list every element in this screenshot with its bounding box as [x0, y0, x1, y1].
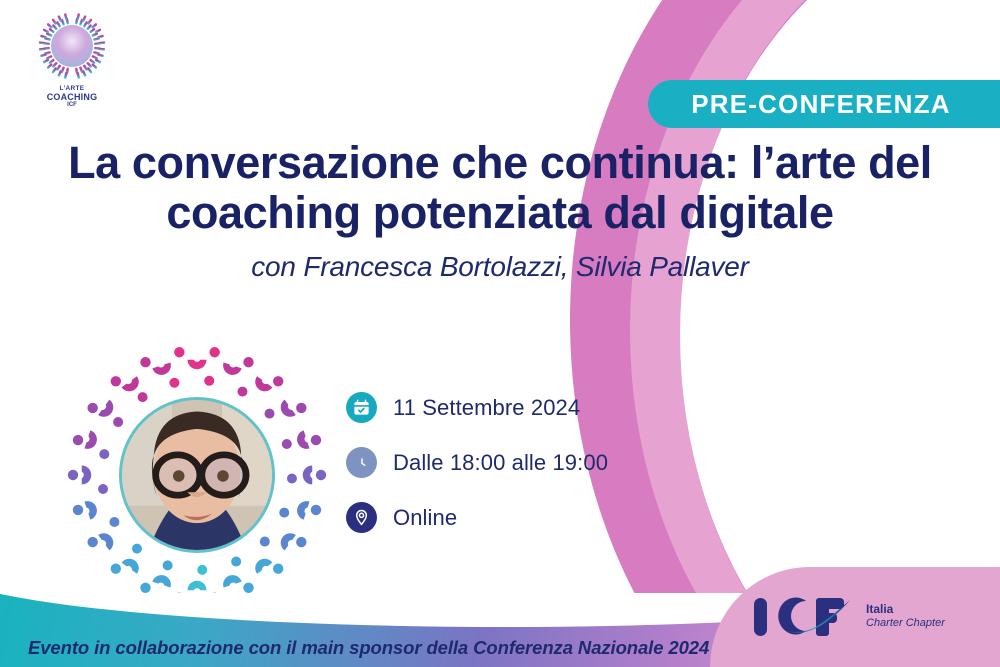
icf-logo: Italia Charter Chapter	[750, 587, 1000, 645]
pre-conference-label: PRE-CONFERENZA	[691, 89, 950, 120]
detail-row-date: 11 Settembre 2024	[346, 392, 608, 423]
event-details: 11 Settembre 2024 Dalle 18:00 alle 19:00…	[346, 392, 608, 533]
brand-line2: COACHING	[47, 92, 98, 102]
brand-logo-ring	[32, 12, 112, 88]
detail-row-location: Online	[346, 502, 608, 533]
page-title: La conversazione che continua: l’arte de…	[0, 138, 1000, 239]
pre-conference-banner: PRE-CONFERENZA	[648, 80, 1000, 128]
speaker-portrait	[62, 340, 332, 610]
portrait-face-image	[122, 400, 272, 550]
icf-chapter: Charter Chapter	[866, 617, 945, 631]
detail-text-time: Dalle 18:00 alle 19:00	[393, 450, 608, 476]
detail-text-date: 11 Settembre 2024	[393, 395, 580, 421]
brand-line3: ICF	[67, 102, 77, 108]
footer-text: Evento in collaborazione con il main spo…	[28, 637, 709, 659]
icf-country: Italia	[866, 602, 945, 617]
icf-chapter-text: Italia Charter Chapter	[866, 602, 945, 631]
brand-wordmark: L’ARTE COACHING ICF	[47, 86, 98, 108]
detail-row-time: Dalle 18:00 alle 19:00	[346, 447, 608, 478]
title-block: La conversazione che continua: l’arte de…	[0, 138, 1000, 283]
calendar-icon	[346, 392, 377, 423]
detail-text-location: Online	[393, 505, 457, 531]
brand-logo: L’ARTE COACHING ICF	[24, 12, 120, 112]
icf-wordmark-icon	[750, 591, 858, 641]
brand-logo-graphic	[32, 12, 112, 88]
event-poster: L’ARTE COACHING ICF PRE-CONFERENZA La co…	[0, 0, 1000, 667]
clock-icon	[346, 447, 377, 478]
location-pin-icon	[346, 502, 377, 533]
portrait-photo	[119, 397, 275, 553]
speakers-subtitle: con Francesca Bortolazzi, Silvia Pallave…	[0, 251, 1000, 283]
